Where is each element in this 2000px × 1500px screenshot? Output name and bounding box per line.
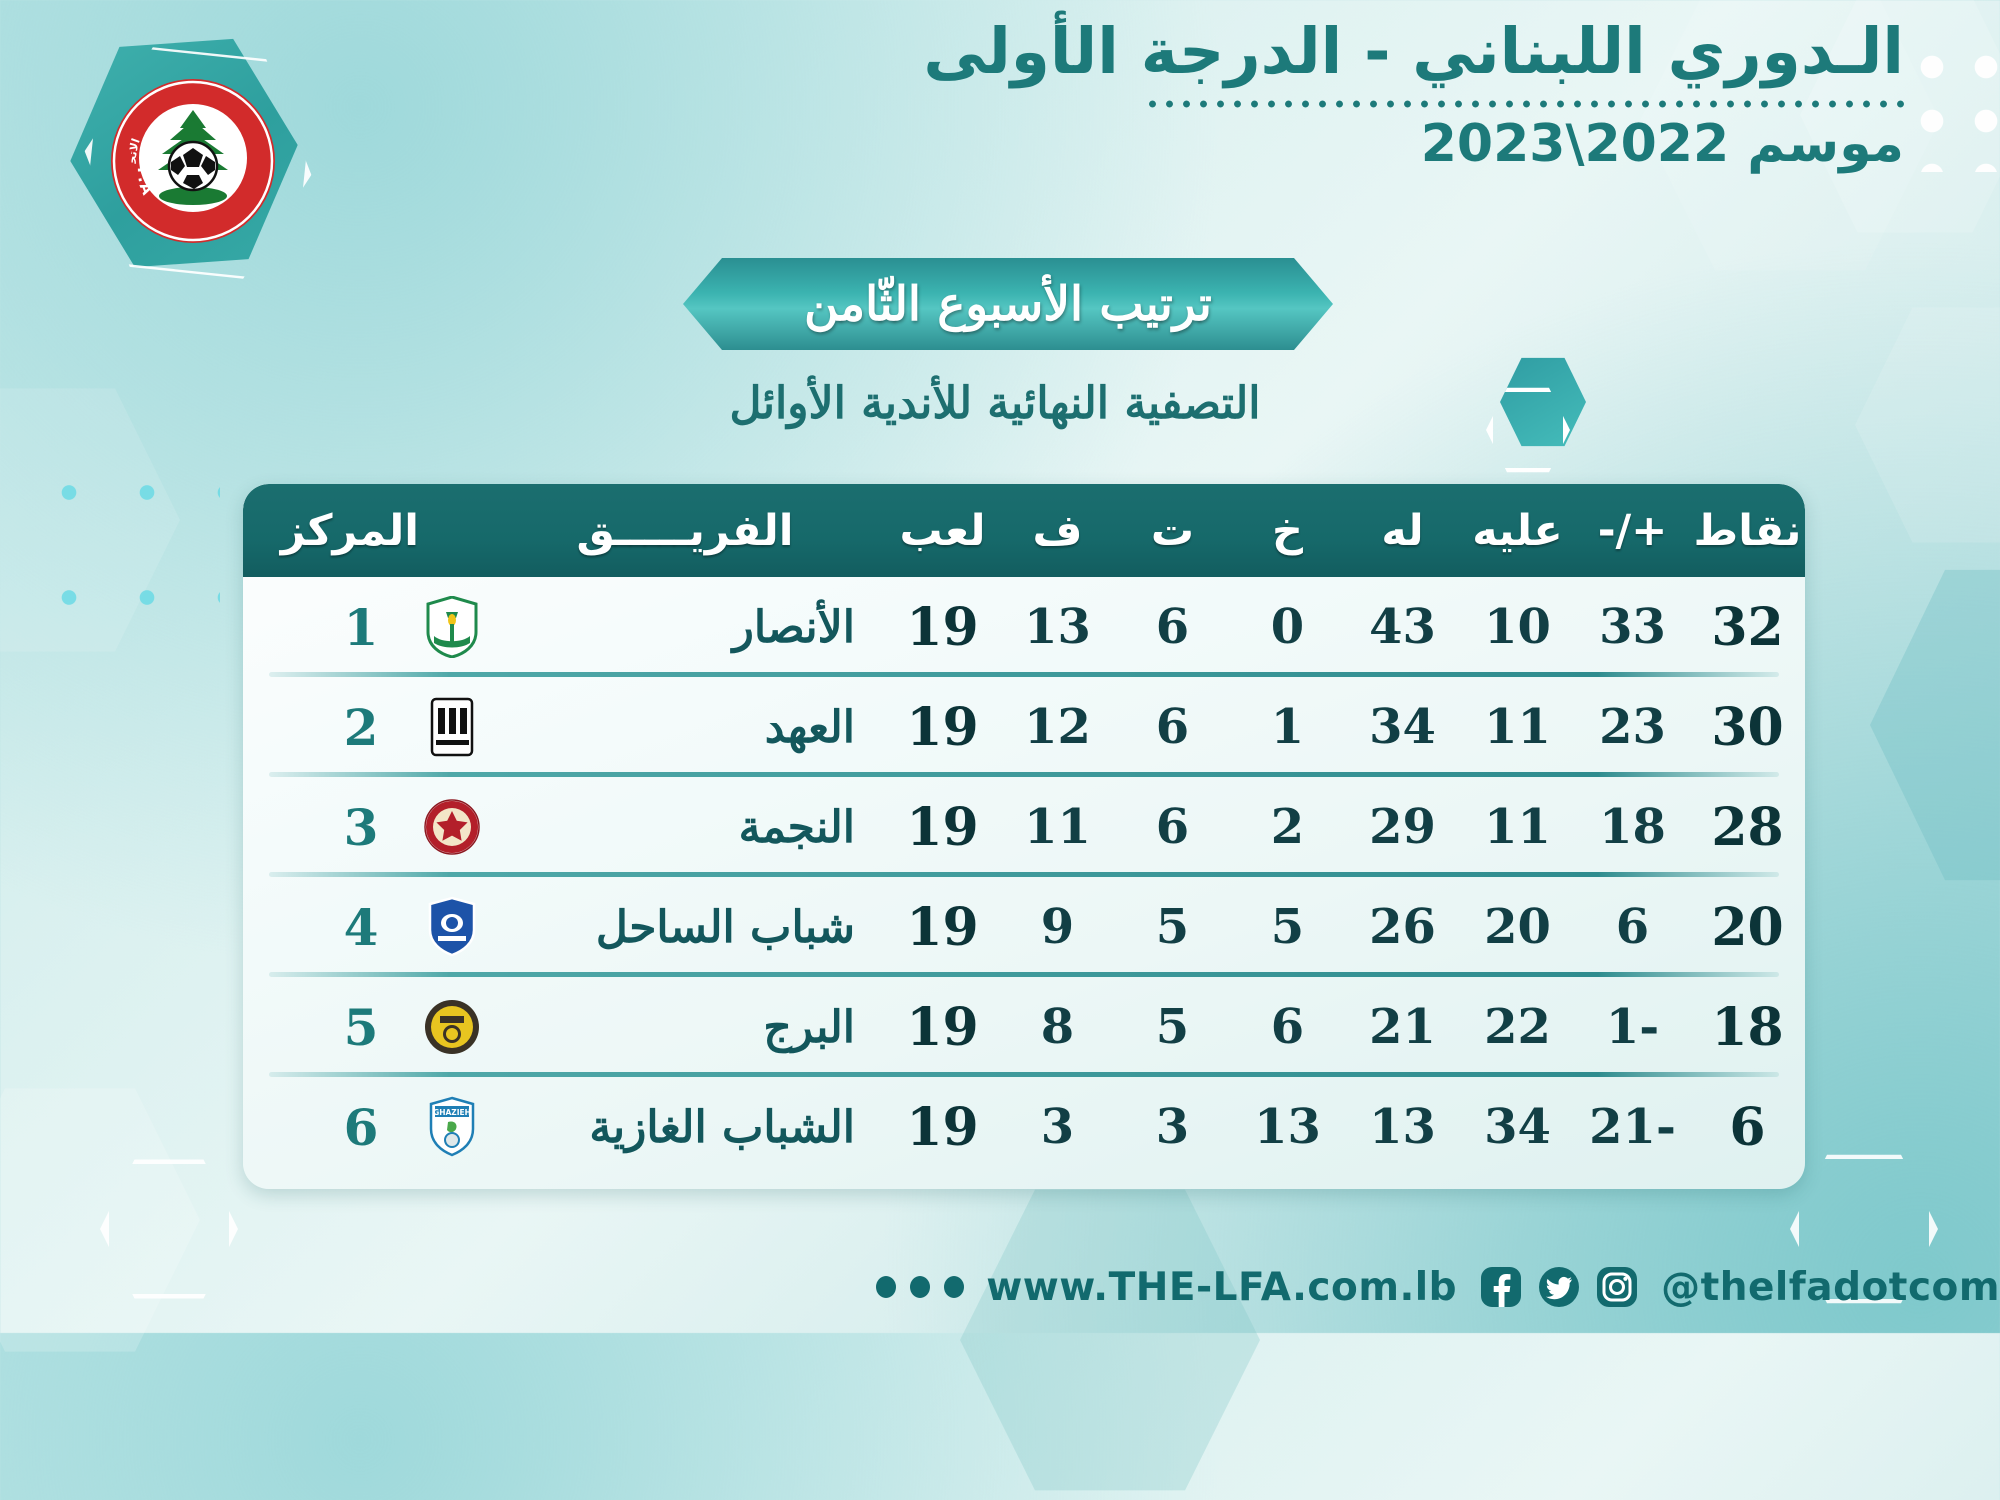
cell-team-name: شباب الساحل xyxy=(495,902,865,953)
cell-goal-diff: 33 xyxy=(1575,599,1690,655)
bg-hexagon-right-mid xyxy=(1855,300,2000,550)
cell-won: 12 xyxy=(1000,699,1115,755)
week-standings-badge: ترتيب الأسبوع الثّامن xyxy=(683,258,1333,350)
column-header-goal-diff: +/- xyxy=(1575,506,1690,556)
cell-goal-diff: 23 xyxy=(1575,699,1690,755)
column-header-team: الفريـــــق xyxy=(505,506,865,556)
ahed-badge xyxy=(409,696,495,758)
nejmeh-badge xyxy=(409,796,495,858)
dot-grid-left xyxy=(30,440,220,630)
cell-points: 32 xyxy=(1690,597,1805,658)
cell-position: 1 xyxy=(313,598,409,657)
column-header-points: نقاط xyxy=(1690,506,1805,556)
column-header-goals-for: له xyxy=(1345,506,1460,556)
cell-goals-for: 13 xyxy=(1345,1099,1460,1155)
cell-points: 28 xyxy=(1690,797,1805,858)
cell-drawn: 6 xyxy=(1115,699,1230,755)
column-header-position: المركز xyxy=(323,506,419,556)
cell-goals-against: 34 xyxy=(1460,1099,1575,1155)
column-header-lost: خ xyxy=(1230,506,1345,556)
cell-lost: 2 xyxy=(1230,799,1345,855)
cell-goals-for: 29 xyxy=(1345,799,1460,855)
cell-drawn: 6 xyxy=(1115,599,1230,655)
table-row: 30231134161219العهد2 xyxy=(243,677,1805,777)
cell-lost: 1 xyxy=(1230,699,1345,755)
cell-goal-diff: -21 xyxy=(1575,1099,1690,1155)
footer-dot-1 xyxy=(876,1276,896,1298)
table-row: 32331043061319الأنصار1 xyxy=(243,577,1805,677)
social-handle[interactable]: @thelfadotcom xyxy=(1661,1265,2000,1310)
subtitle: التصفية النهائية للأندية الأوائل xyxy=(665,378,1325,429)
cell-won: 11 xyxy=(1000,799,1115,855)
twitter-icon[interactable] xyxy=(1537,1265,1581,1309)
cell-team-name: الأنصار xyxy=(495,602,865,653)
cell-goals-for: 26 xyxy=(1345,899,1460,955)
cell-goal-diff: -1 xyxy=(1575,999,1690,1055)
cell-won: 8 xyxy=(1000,999,1115,1055)
bg-hexagon-right-lower xyxy=(1870,560,2000,890)
ansar-badge xyxy=(409,596,495,658)
cell-drawn: 5 xyxy=(1115,999,1230,1055)
column-header-goals-against: عليه xyxy=(1460,506,1575,556)
cell-won: 3 xyxy=(1000,1099,1115,1155)
column-header-won: ف xyxy=(1000,506,1115,556)
ghazieh-badge: GHAZIEH xyxy=(409,1096,495,1158)
cell-played: 19 xyxy=(885,897,1000,958)
table-header-row: نقاط +/- عليه له خ ت ف لعب الفريـــــق ا… xyxy=(243,484,1805,577)
cell-goal-diff: 18 xyxy=(1575,799,1690,855)
borj-badge xyxy=(409,996,495,1058)
cell-team-name: البرج xyxy=(495,1002,865,1053)
column-header-played: لعب xyxy=(885,506,1000,556)
cell-played: 19 xyxy=(885,797,1000,858)
week-standings-label: ترتيب الأسبوع الثّامن xyxy=(804,277,1212,332)
table-body: 32331043061319الأنصار130231134161219العه… xyxy=(243,577,1805,1177)
facebook-icon[interactable] xyxy=(1479,1265,1523,1309)
bg-hexagon-bottom-mid xyxy=(960,1180,1260,1500)
cell-team-name: النجمة xyxy=(495,802,865,853)
cell-lost: 5 xyxy=(1230,899,1345,955)
sahel-badge xyxy=(409,896,495,958)
cell-goals-against: 10 xyxy=(1460,599,1575,655)
cell-drawn: 3 xyxy=(1115,1099,1230,1155)
cell-goals-against: 11 xyxy=(1460,699,1575,755)
cell-position: 3 xyxy=(313,798,409,857)
cell-drawn: 6 xyxy=(1115,799,1230,855)
cell-played: 19 xyxy=(885,597,1000,658)
cell-team-name: العهد xyxy=(495,702,865,753)
title-divider-dots xyxy=(1144,94,1904,110)
cell-position: 2 xyxy=(313,698,409,757)
page-title: الـدوري اللبناني - الدرجة الأولى xyxy=(724,16,1904,88)
header-title-block: الـدوري اللبناني - الدرجة الأولى موسم 20… xyxy=(724,16,1904,174)
cell-lost: 0 xyxy=(1230,599,1345,655)
lfa-logo-container: الاتحاد اللبناني لكرة القدم LEBANON F.A xyxy=(62,28,312,280)
cell-goals-against: 11 xyxy=(1460,799,1575,855)
cell-lost: 6 xyxy=(1230,999,1345,1055)
cell-points: 6 xyxy=(1690,1097,1805,1158)
cell-played: 19 xyxy=(885,997,1000,1058)
lebanon-fa-logo-icon: الاتحاد اللبناني لكرة القدم LEBANON F.A xyxy=(108,76,278,246)
footer-dot-2 xyxy=(910,1276,930,1298)
column-header-drawn: ت xyxy=(1115,506,1230,556)
cell-goals-against: 22 xyxy=(1460,999,1575,1055)
cell-position: 6 xyxy=(313,1098,409,1157)
cell-drawn: 5 xyxy=(1115,899,1230,955)
table-row: 206202655919شباب الساحل4 xyxy=(243,877,1805,977)
cell-team-name: الشباب الغازية xyxy=(495,1102,865,1153)
cell-goals-for: 21 xyxy=(1345,999,1460,1055)
season-label: موسم 2022\2023 xyxy=(724,114,1904,174)
cell-position: 5 xyxy=(313,998,409,1057)
cell-goals-for: 34 xyxy=(1345,699,1460,755)
cell-goal-diff: 6 xyxy=(1575,899,1690,955)
cell-won: 13 xyxy=(1000,599,1115,655)
cell-played: 19 xyxy=(885,697,1000,758)
table-row: 28181129261119النجمة3 xyxy=(243,777,1805,877)
svg-text:GHAZIEH: GHAZIEH xyxy=(433,1108,471,1117)
table-row: 18-1222165819البرج5 xyxy=(243,977,1805,1077)
instagram-icon[interactable] xyxy=(1595,1265,1639,1309)
standings-table: نقاط +/- عليه له خ ت ف لعب الفريـــــق ا… xyxy=(243,484,1805,1189)
footer-dot-3 xyxy=(944,1276,964,1298)
cell-won: 9 xyxy=(1000,899,1115,955)
cell-points: 30 xyxy=(1690,697,1805,758)
cell-lost: 13 xyxy=(1230,1099,1345,1155)
table-row: 6-213413133319الشباب الغازيةGHAZIEH6 xyxy=(243,1077,1805,1177)
cell-points: 20 xyxy=(1690,897,1805,958)
website-url[interactable]: www.THE-LFA.com.lb xyxy=(986,1265,1457,1310)
cell-goals-against: 20 xyxy=(1460,899,1575,955)
footer-bar: www.THE-LFA.com.lb @thelfadotcom xyxy=(0,1241,2000,1333)
cell-points: 18 xyxy=(1690,997,1805,1058)
cell-position: 4 xyxy=(313,898,409,957)
cell-goals-for: 43 xyxy=(1345,599,1460,655)
cell-played: 19 xyxy=(885,1097,1000,1158)
